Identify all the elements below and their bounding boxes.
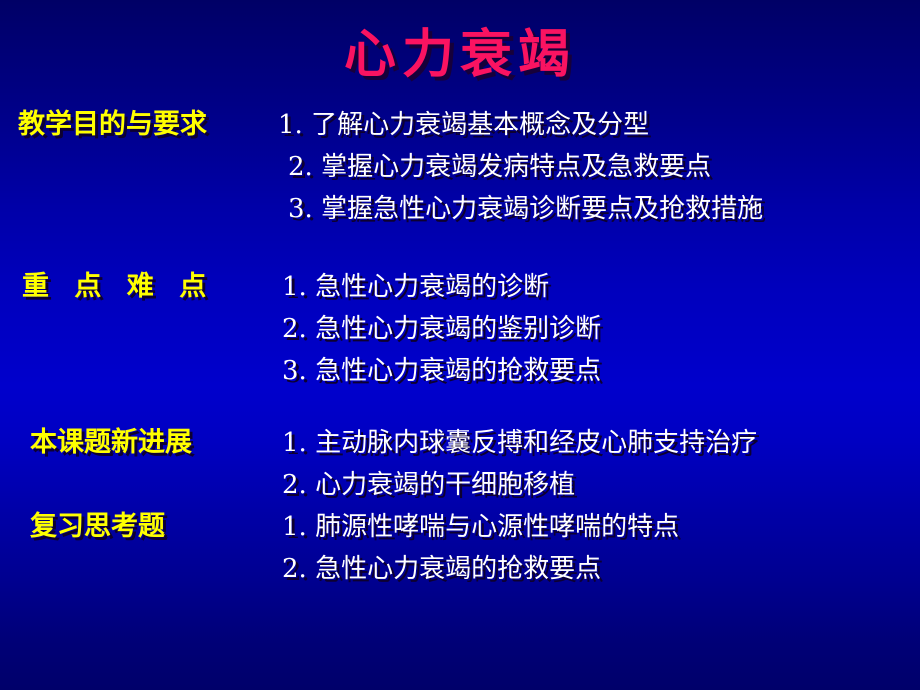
list-item: 1. 了解心力衰竭基本概念及分型 — [278, 104, 763, 146]
list-item: 2. 掌握心力衰竭发病特点及急救要点 — [278, 146, 763, 188]
section-body-key-points: 1. 急性心力衰竭的诊断 2. 急性心力衰竭的鉴别诊断 3. 急性心力衰竭的抢救… — [282, 266, 601, 392]
list-item: 1. 肺源性哮喘与心源性哮喘的特点 — [282, 506, 679, 548]
list-item: 3. 掌握急性心力衰竭诊断要点及抢救措施 — [278, 188, 763, 230]
section-label-key-points: 重 点 难 点 — [22, 270, 214, 304]
presentation-slide: 心力衰竭 教学目的与要求 1. 了解心力衰竭基本概念及分型 2. 掌握心力衰竭发… — [0, 0, 920, 690]
section-label-objectives: 教学目的与要求 — [18, 108, 207, 142]
list-item: 2. 急性心力衰竭的抢救要点 — [282, 548, 679, 590]
section-body-review-questions: 1. 肺源性哮喘与心源性哮喘的特点 2. 急性心力衰竭的抢救要点 — [282, 506, 679, 590]
list-item: 2. 急性心力衰竭的鉴别诊断 — [282, 308, 601, 350]
section-label-review-questions: 复习思考题 — [30, 510, 165, 544]
slide-title: 心力衰竭 — [0, 26, 920, 84]
list-item: 1. 主动脉内球囊反搏和经皮心肺支持治疗 — [282, 422, 757, 464]
section-body-new-advances: 1. 主动脉内球囊反搏和经皮心肺支持治疗 2. 心力衰竭的干细胞移植 — [282, 422, 757, 506]
section-body-objectives: 1. 了解心力衰竭基本概念及分型 2. 掌握心力衰竭发病特点及急救要点 3. 掌… — [278, 104, 763, 230]
list-item: 1. 急性心力衰竭的诊断 — [282, 266, 601, 308]
list-item: 3. 急性心力衰竭的抢救要点 — [282, 350, 601, 392]
section-label-new-advances: 本课题新进展 — [30, 426, 192, 460]
list-item: 2. 心力衰竭的干细胞移植 — [282, 464, 757, 506]
